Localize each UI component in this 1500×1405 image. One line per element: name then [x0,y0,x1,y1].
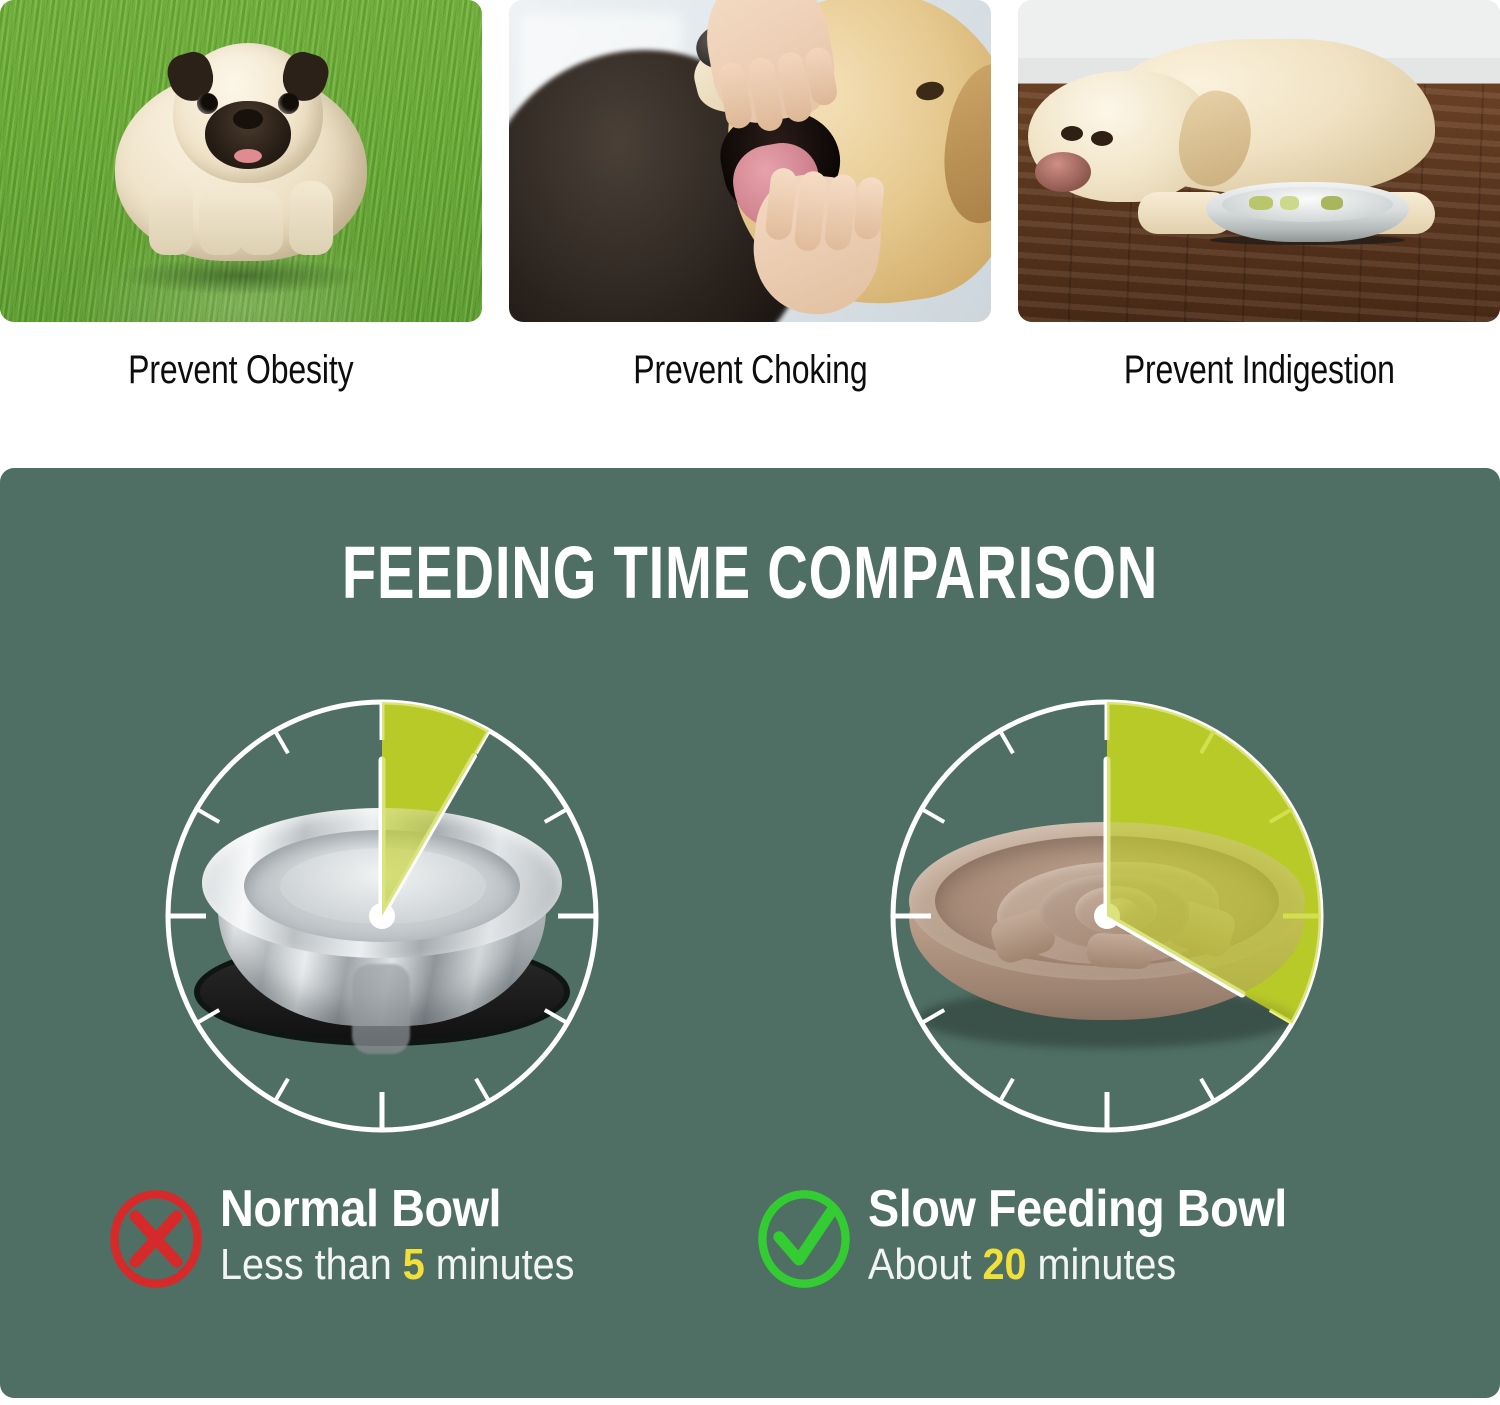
photo-labrador-by-bowl [1018,0,1500,322]
sub-suffix: minutes [1027,1240,1177,1289]
benefits-photo-strip: Prevent Obesity [0,0,1500,440]
benefit-card-indigestion: Prevent Indigestion [1018,0,1500,440]
food-bowl [1206,182,1410,242]
caption-normal-bowl: Normal Bowl Less than 5 minutes [104,1183,614,1291]
sub-suffix: minutes [425,1240,575,1289]
caption-title-slow-feeding-bowl: Slow Feeding Bowl [868,1183,1287,1236]
clock-normal-bowl [162,696,602,1136]
caption-title-normal-bowl: Normal Bowl [220,1183,574,1236]
clock-slow-feeder-bowl [887,696,1327,1136]
circle-check-icon [752,1187,856,1291]
benefit-caption-obesity: Prevent Obesity [128,348,353,393]
sub-value-minutes: 5 [403,1240,425,1289]
benefit-caption-choking: Prevent Choking [633,348,867,393]
photo-overweight-pug [0,0,482,322]
feeding-time-comparison-panel: FEEDING TIME COMPARISON [0,468,1500,1398]
photo-dog-choking-check [509,0,991,322]
caption-sub-normal-bowl: Less than 5 minutes [220,1242,574,1288]
labrador-illustration [1028,39,1452,239]
benefit-caption-indigestion: Prevent Indigestion [1124,348,1395,393]
comparison-caption-row: Normal Bowl Less than 5 minutes Slow Fee… [0,1183,1500,1313]
sub-prefix: Less than [220,1240,403,1289]
golden-retriever-illustration [660,0,991,322]
circle-x-icon [104,1187,208,1291]
stainless-steel-bowl [162,696,602,1136]
sub-prefix: About [868,1240,982,1289]
caption-sub-slow-feeding-bowl: About 20 minutes [868,1242,1287,1288]
caption-slow-feeding-bowl: Slow Feeding Bowl About 20 minutes [752,1183,1333,1291]
benefit-card-obesity: Prevent Obesity [0,0,482,440]
benefit-card-choking: Prevent Choking [509,0,991,440]
slow-feeder-bowl [887,696,1327,1136]
sub-value-minutes: 20 [982,1240,1026,1289]
pug-illustration [61,37,421,297]
